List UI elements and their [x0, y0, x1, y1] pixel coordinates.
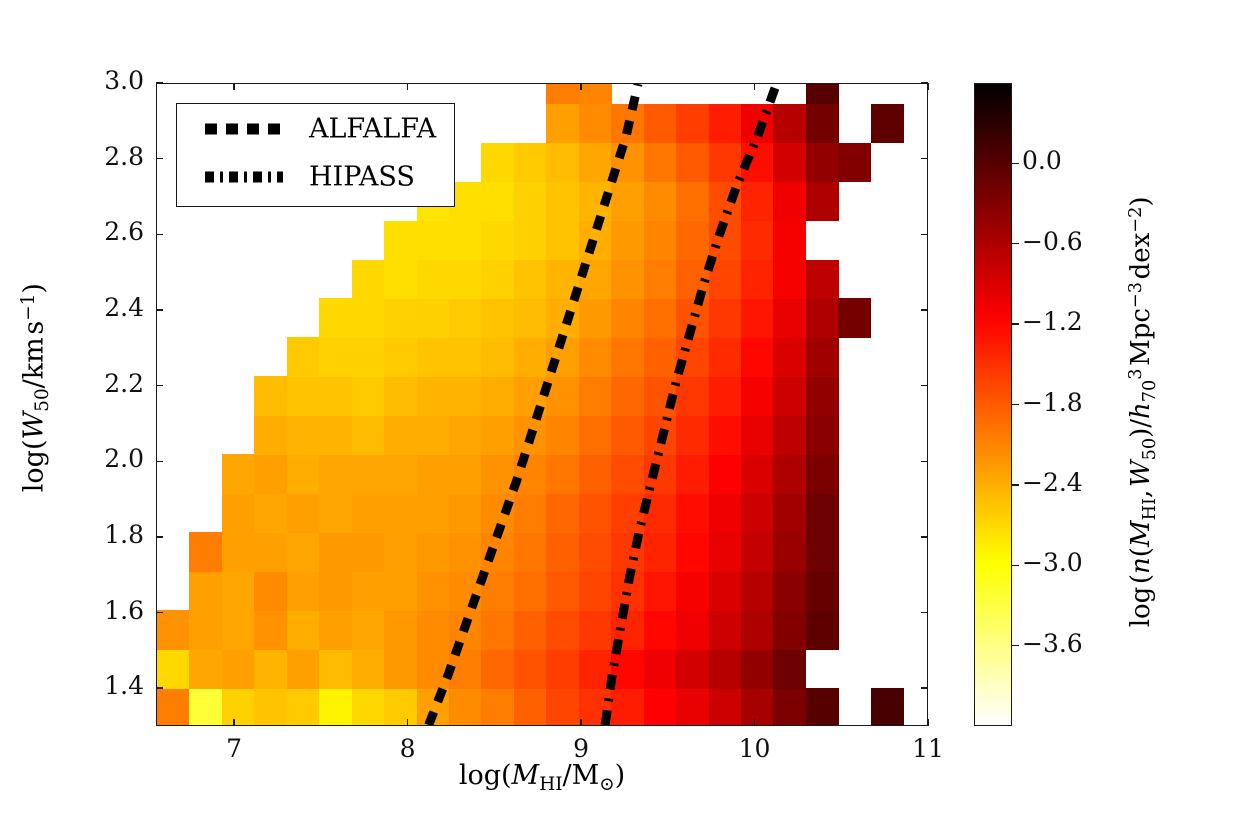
heatmap-cell: [514, 143, 547, 183]
heatmap-cell: [319, 571, 352, 611]
y-tick-label: 1.4: [70, 671, 144, 700]
heatmap-cell: [741, 298, 774, 338]
heatmap-cell: [871, 104, 904, 144]
heatmap-cell: [579, 221, 612, 261]
heatmap-cell: [611, 260, 644, 300]
heatmap-cell: [676, 493, 709, 533]
heatmap-cell: [773, 610, 806, 650]
heatmap-cell: [741, 610, 774, 650]
heatmap-cell: [709, 415, 742, 455]
heatmap-cell: [319, 298, 352, 338]
heatmap-cell: [676, 221, 709, 261]
heatmap-cell: [676, 337, 709, 377]
heatmap-cell: [352, 610, 385, 650]
heatmap-cell: [417, 415, 450, 455]
colorbar-tick-label: −3.0: [1022, 548, 1083, 577]
heatmap-cell: [449, 260, 482, 300]
heatmap-cell: [579, 688, 612, 726]
heatmap-cell: [514, 688, 547, 726]
legend-box: ALFALFA HIPASS: [176, 103, 455, 207]
heatmap-cell: [319, 688, 352, 726]
heatmap-cell: [676, 143, 709, 183]
heatmap-cell: [287, 649, 320, 689]
y-tick-mark-right: [921, 234, 928, 235]
heatmap-cell: [481, 182, 514, 222]
heatmap-cell: [579, 84, 612, 104]
heatmap-cell: [741, 337, 774, 377]
heatmap-cell: [676, 688, 709, 726]
y-tick-mark: [156, 82, 163, 83]
heatmap-cell: [741, 260, 774, 300]
heatmap-cell: [514, 610, 547, 650]
heatmap-cell: [806, 415, 839, 455]
heatmap-cell: [449, 298, 482, 338]
y-tick-label: 2.4: [70, 293, 144, 322]
heatmap-cell: [189, 649, 222, 689]
heatmap-cell: [254, 493, 287, 533]
heatmap-cell: [579, 104, 612, 144]
heatmap-cell: [773, 182, 806, 222]
x-tick-mark: [754, 719, 755, 726]
y-tick-label: 2.0: [70, 444, 144, 473]
heatmap-cell: [157, 649, 190, 689]
heatmap-cell: [222, 454, 255, 494]
heatmap-cell: [546, 571, 579, 611]
heatmap-cell: [709, 376, 742, 416]
heatmap-cell: [481, 376, 514, 416]
heatmap-cell: [741, 454, 774, 494]
heatmap-cell: [546, 610, 579, 650]
heatmap-cell: [611, 221, 644, 261]
heatmap-cell: [352, 260, 385, 300]
heatmap-cell: [287, 532, 320, 572]
heatmap-cell: [449, 415, 482, 455]
heatmap-cell: [352, 298, 385, 338]
heatmap-cell: [417, 649, 450, 689]
heatmap-cell: [676, 571, 709, 611]
heatmap-cell: [384, 454, 417, 494]
heatmap-cell: [709, 221, 742, 261]
heatmap-cell: [579, 337, 612, 377]
alfalfa-line-sample: [205, 124, 283, 135]
heatmap-cell: [644, 337, 677, 377]
heatmap-cell: [676, 454, 709, 494]
heatmap-cell: [611, 649, 644, 689]
colorbar-tick-label: −3.6: [1022, 629, 1083, 658]
x-tick-label: 9: [551, 734, 611, 763]
heatmap-cell: [546, 415, 579, 455]
heatmap-cell: [417, 571, 450, 611]
heatmap-cell: [319, 376, 352, 416]
heatmap-cell: [676, 104, 709, 144]
colorbar-tick-label: −2.4: [1022, 468, 1083, 497]
heatmap-cell: [287, 610, 320, 650]
heatmap-cell: [352, 493, 385, 533]
y-tick-mark: [156, 234, 163, 235]
heatmap-cell: [611, 532, 644, 572]
x-title-text: log(MHI/M⊙): [459, 760, 625, 791]
heatmap-cell: [579, 182, 612, 222]
heatmap-cell: [417, 688, 450, 726]
heatmap-cell: [676, 532, 709, 572]
colorbar-tick-mark: [1012, 243, 1019, 244]
heatmap-cell: [546, 337, 579, 377]
heatmap-cell: [546, 260, 579, 300]
legend-label-hipass: HIPASS: [309, 162, 415, 193]
heatmap-cell: [546, 298, 579, 338]
heatmap-cell: [352, 376, 385, 416]
heatmap-cell: [254, 415, 287, 455]
heatmap-cell: [611, 104, 644, 144]
heatmap-cell: [806, 260, 839, 300]
y-tick-mark-right: [921, 82, 928, 83]
colorbar-tick-mark: [1012, 163, 1019, 164]
y-tick-label: 1.6: [70, 596, 144, 625]
heatmap-cell: [384, 415, 417, 455]
colorbar-tick-mark: [1012, 484, 1019, 485]
heatmap-cell: [644, 143, 677, 183]
heatmap-cell: [189, 688, 222, 726]
heatmap-cell: [579, 260, 612, 300]
heatmap-cell: [806, 298, 839, 338]
heatmap-cell: [287, 493, 320, 533]
figure-canvas: ALFALFA HIPASS 78910111.41.61.82.02.22.4…: [0, 0, 1246, 830]
heatmap-cell: [773, 376, 806, 416]
heatmap-cell: [189, 571, 222, 611]
heatmap-cell: [709, 532, 742, 572]
heatmap-cell: [514, 376, 547, 416]
heatmap-cell: [417, 221, 450, 261]
heatmap-cell: [417, 493, 450, 533]
heatmap-cell: [384, 221, 417, 261]
x-axis-title: log(MHI/M⊙): [0, 760, 1084, 795]
heatmap-cell: [352, 571, 385, 611]
heatmap-cell: [806, 84, 839, 104]
heatmap-cell: [806, 454, 839, 494]
heatmap-cell: [741, 415, 774, 455]
heatmap-cell: [579, 143, 612, 183]
heatmap-cell: [644, 221, 677, 261]
heatmap-cell: [579, 571, 612, 611]
heatmap-cell: [514, 415, 547, 455]
heatmap-cell: [806, 688, 839, 726]
y-tick-label: 2.2: [70, 369, 144, 398]
heatmap-cell: [644, 182, 677, 222]
heatmap-cell: [352, 649, 385, 689]
heatmap-cell: [287, 376, 320, 416]
heatmap-cell: [773, 337, 806, 377]
hipass-line-sample: [205, 172, 283, 183]
legend-label-alfalfa: ALFALFA: [309, 114, 436, 145]
heatmap-cell: [676, 260, 709, 300]
heatmap-cell: [806, 104, 839, 144]
heatmap-cell: [741, 104, 774, 144]
heatmap-cell: [481, 532, 514, 572]
heatmap-cell: [222, 610, 255, 650]
heatmap-cell: [352, 532, 385, 572]
heatmap-cell: [741, 532, 774, 572]
x-tick-mark: [927, 719, 928, 726]
heatmap-cell: [741, 143, 774, 183]
y-tick-mark: [156, 461, 163, 462]
heatmap-cell: [481, 298, 514, 338]
heatmap-cell: [222, 532, 255, 572]
heatmap-cell: [254, 688, 287, 726]
heatmap-cell: [579, 532, 612, 572]
heatmap-cell: [611, 454, 644, 494]
heatmap-cell: [741, 649, 774, 689]
heatmap-cell: [449, 649, 482, 689]
heatmap-cell: [222, 493, 255, 533]
heatmap-cell: [287, 337, 320, 377]
heatmap-cell: [449, 532, 482, 572]
heatmap-cell: [806, 493, 839, 533]
heatmap-cell: [319, 415, 352, 455]
heatmap-cell: [546, 532, 579, 572]
heatmap-cell: [449, 610, 482, 650]
heatmap-cell: [644, 376, 677, 416]
heatmap-cell: [449, 571, 482, 611]
legend-entry-hipass: HIPASS: [177, 154, 454, 200]
colorbar-tick-label: −0.6: [1022, 227, 1083, 256]
heatmap-cell: [319, 493, 352, 533]
y-tick-mark-right: [921, 461, 928, 462]
heatmap-cell: [676, 649, 709, 689]
heatmap-cell: [579, 493, 612, 533]
heatmap-cell: [644, 649, 677, 689]
heatmap-cell: [644, 454, 677, 494]
y-tick-mark-right: [921, 687, 928, 688]
heatmap-cell: [611, 571, 644, 611]
heatmap-cell: [481, 260, 514, 300]
heatmap-cell: [481, 610, 514, 650]
heatmap-cell: [449, 221, 482, 261]
heatmap-cell: [676, 298, 709, 338]
heatmap-cell: [644, 532, 677, 572]
heatmap-cell: [644, 298, 677, 338]
y-tick-label: 2.6: [70, 217, 144, 246]
heatmap-cell: [741, 376, 774, 416]
heatmap-cell: [773, 493, 806, 533]
heatmap-cell: [481, 415, 514, 455]
heatmap-cell: [611, 182, 644, 222]
heatmap-cell: [676, 376, 709, 416]
heatmap-cell: [352, 337, 385, 377]
heatmap-cell: [611, 688, 644, 726]
y-tick-mark-right: [921, 385, 928, 386]
heatmap-cell: [222, 571, 255, 611]
heatmap-cell: [287, 688, 320, 726]
heatmap-cell: [546, 84, 579, 104]
heatmap-cell: [384, 376, 417, 416]
y-tick-label: 1.8: [70, 520, 144, 549]
heatmap-cell: [644, 688, 677, 726]
x-tick-label: 7: [204, 734, 264, 763]
heatmap-cell: [319, 532, 352, 572]
y-tick-mark: [156, 612, 163, 613]
heatmap-cell: [546, 376, 579, 416]
heatmap-cell: [644, 415, 677, 455]
heatmap-cell: [773, 454, 806, 494]
colorbar-tick-label: 0.0: [1022, 146, 1062, 175]
y-tick-mark: [156, 536, 163, 537]
heatmap-cell: [449, 454, 482, 494]
heatmap-cell: [222, 688, 255, 726]
y-tick-label: 2.8: [70, 142, 144, 171]
heatmap-cell: [611, 610, 644, 650]
heatmap-cell: [806, 337, 839, 377]
legend-entry-alfalfa: ALFALFA: [177, 106, 454, 152]
x-tick-mark-top: [754, 83, 755, 90]
heatmap-cell: [806, 571, 839, 611]
x-tick-mark-top: [407, 83, 408, 90]
heatmap-cell: [384, 571, 417, 611]
heatmap-cell: [611, 376, 644, 416]
heatmap-cell: [806, 182, 839, 222]
heatmap-cell: [741, 182, 774, 222]
x-tick-mark-top: [233, 83, 234, 90]
heatmap-cell: [352, 454, 385, 494]
heatmap-cell: [514, 337, 547, 377]
heatmap-cell: [481, 688, 514, 726]
heatmap-cell: [481, 571, 514, 611]
heatmap-cell: [773, 532, 806, 572]
heatmap-cell: [287, 454, 320, 494]
heatmap-cell: [838, 298, 871, 338]
heatmap-cell: [222, 649, 255, 689]
colorbar: [974, 83, 1012, 726]
heatmap-cell: [838, 143, 871, 183]
heatmap-cell: [806, 610, 839, 650]
heatmap-cell: [157, 688, 190, 726]
heatmap-cell: [676, 610, 709, 650]
heatmap-cell: [514, 260, 547, 300]
heatmap-cell: [417, 260, 450, 300]
heatmap-cell: [449, 376, 482, 416]
heatmap-cell: [352, 415, 385, 455]
heatmap-cell: [611, 143, 644, 183]
heatmap-cell: [546, 493, 579, 533]
heatmap-cell: [514, 649, 547, 689]
heatmap-cell: [254, 649, 287, 689]
heatmap-cell: [384, 260, 417, 300]
heatmap-cell: [806, 532, 839, 572]
heatmap-cell: [481, 493, 514, 533]
colorbar-tick-mark: [1012, 404, 1019, 405]
x-tick-label: 8: [378, 734, 438, 763]
heatmap-cell: [773, 415, 806, 455]
heatmap-cell: [773, 143, 806, 183]
heatmap-cell: [481, 649, 514, 689]
heatmap-cell: [709, 260, 742, 300]
heatmap-cell: [741, 493, 774, 533]
heatmap-cell: [384, 688, 417, 726]
heatmap-cell: [546, 143, 579, 183]
heatmap-cell: [384, 532, 417, 572]
heatmap-cell: [579, 376, 612, 416]
heatmap-cell: [449, 688, 482, 726]
heatmap-cell: [806, 143, 839, 183]
heatmap-cell: [254, 376, 287, 416]
heatmap-cell: [546, 104, 579, 144]
heatmap-cell: [741, 221, 774, 261]
heatmap-cell: [709, 143, 742, 183]
y-tick-mark: [156, 158, 163, 159]
heatmap-cell: [481, 143, 514, 183]
heatmap-cell: [611, 415, 644, 455]
colorbar-gradient: [975, 84, 1011, 725]
y-tick-mark-right: [921, 158, 928, 159]
colorbar-tick-mark: [1012, 323, 1019, 324]
heatmap-cell: [546, 454, 579, 494]
y-tick-mark-right: [921, 612, 928, 613]
heatmap-cell: [157, 610, 190, 650]
heatmap-cell: [579, 415, 612, 455]
heatmap-cell: [709, 610, 742, 650]
heatmap-cell: [773, 104, 806, 144]
heatmap-cell: [514, 532, 547, 572]
y-tick-mark: [156, 687, 163, 688]
heatmap-cell: [644, 260, 677, 300]
y-tick-mark: [156, 309, 163, 310]
heatmap-cell: [773, 260, 806, 300]
heatmap-cell: [676, 415, 709, 455]
heatmap-cell: [579, 454, 612, 494]
heatmap-cell: [319, 337, 352, 377]
heatmap-cell: [579, 649, 612, 689]
heatmap-cell: [741, 688, 774, 726]
heatmap-cell: [644, 493, 677, 533]
x-tick-label: 10: [725, 734, 785, 763]
heatmap-cell: [384, 610, 417, 650]
heatmap-cell: [546, 221, 579, 261]
colorbar-tick-mark: [1012, 645, 1019, 646]
heatmap-cell: [384, 649, 417, 689]
heatmap-cell: [189, 610, 222, 650]
heatmap-cell: [709, 688, 742, 726]
heatmap-cell: [254, 610, 287, 650]
heatmap-cell: [709, 298, 742, 338]
heatmap-cell: [773, 649, 806, 689]
heatmap-cell: [417, 532, 450, 572]
heatmap-cell: [417, 376, 450, 416]
heatmap-cell: [287, 415, 320, 455]
heatmap-cell: [579, 298, 612, 338]
heatmap-cell: [514, 571, 547, 611]
heatmap-cell: [611, 493, 644, 533]
heatmap-cell: [709, 182, 742, 222]
heatmap-cell: [644, 571, 677, 611]
heatmap-cell: [546, 688, 579, 726]
heatmap-cell: [709, 649, 742, 689]
colorbar-tick-label: −1.8: [1022, 388, 1083, 417]
heatmap-cell: [417, 298, 450, 338]
heatmap-cell: [709, 104, 742, 144]
heatmap-cell: [417, 337, 450, 377]
heatmap-cell: [709, 493, 742, 533]
heatmap-cell: [254, 532, 287, 572]
colorbar-title: log (n(MHI, W50)/h703 Mpc−3 dex−2): [1126, 162, 1160, 662]
x-tick-mark: [233, 719, 234, 726]
heatmap-cell: [514, 182, 547, 222]
heatmap-cell: [546, 649, 579, 689]
heatmap-cell: [384, 493, 417, 533]
heatmap-cell: [514, 493, 547, 533]
heatmap-cell: [644, 610, 677, 650]
heatmap-cell: [514, 454, 547, 494]
heatmap-cell: [611, 337, 644, 377]
heatmap-cell: [481, 337, 514, 377]
